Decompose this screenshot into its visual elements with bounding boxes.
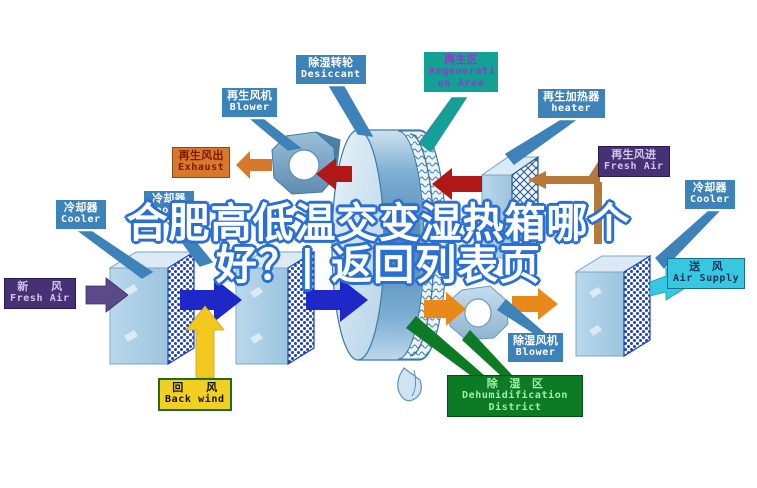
callout-regeneration-fresh-air-in-cn: 再生风进 — [604, 149, 664, 161]
after-cooler-unit — [576, 256, 650, 356]
callout-desiccant-wheel-en: Desiccant — [301, 69, 361, 80]
callout-air-supply-out-cn: 送 风 — [673, 261, 739, 273]
callout-regeneration-fresh-air-in[interactable]: 再生风进 Fresh Air — [598, 146, 670, 177]
callout-dehumidification-blower[interactable]: 除湿风机 Blower — [508, 333, 563, 362]
callout-dehumidification-district[interactable]: 除 湿 区 Dehumidification District — [447, 375, 583, 417]
callout-regeneration-blower-en: Blower — [227, 102, 272, 113]
regen-intake-arrow — [528, 162, 607, 244]
regen-exhaust-arrow — [236, 151, 272, 179]
callout-regeneration-blower-cn: 再生风机 — [227, 90, 272, 102]
callout-regeneration-fresh-air-in-en: Fresh Air — [604, 161, 664, 172]
callout-regeneration-exhaust-en: Exhaust — [178, 162, 224, 173]
callout-regeneration-exhaust[interactable]: 再生风出 Exhaust — [172, 147, 230, 178]
callout-regeneration-exhaust-cn: 再生风出 — [178, 150, 224, 162]
airflow-schematic: XY — [0, 0, 757, 488]
condensate-drain — [398, 368, 422, 401]
callout-dehumidification-district-cn: 除 湿 区 — [453, 378, 577, 390]
callout-cooler-right-en: Cooler — [690, 194, 730, 205]
callout-regeneration-heater-cn: 再生加热器 — [543, 91, 600, 103]
callout-cooler-right-cn: 冷却器 — [690, 182, 730, 194]
callout-regeneration-heater[interactable]: 再生加热器 heater — [538, 89, 605, 118]
callout-air-supply-out[interactable]: 送 风 Air Supply — [667, 258, 745, 289]
callout-cooler-right[interactable]: 冷却器 Cooler — [685, 180, 735, 209]
callout-desiccant-wheel-cn: 除湿转轮 — [301, 57, 361, 69]
regeneration-area-leader — [420, 98, 466, 152]
callout-fresh-air-in-en: Fresh Air — [10, 293, 70, 304]
callout-back-wind[interactable]: 回 风 Back wind — [158, 378, 232, 411]
regeneration-heater-unit — [482, 157, 538, 258]
callout-dehumidification-blower-cn: 除湿风机 — [513, 335, 558, 347]
mid-cooler-unit — [236, 252, 314, 364]
callout-cooler-left-en: Cooler — [61, 214, 101, 225]
callout-regeneration-blower[interactable]: 再生风机 Blower — [222, 88, 277, 117]
callout-cooler-left[interactable]: 冷却器 Cooler — [56, 200, 106, 229]
callout-regeneration-area[interactable]: 再生区 Regenerati on Area — [424, 52, 498, 92]
callout-air-supply-out-en: Air Supply — [673, 273, 739, 284]
diagram-canvas: XY — [0, 0, 757, 488]
callout-cooler-mid-left-en: Cooler — [149, 205, 189, 216]
callout-fresh-air-in[interactable]: 新 风 Fresh Air — [4, 278, 76, 309]
callout-fresh-air-in-cn: 新 风 — [10, 281, 70, 293]
callout-desiccant-wheel[interactable]: 除湿转轮 Desiccant — [296, 55, 366, 84]
desiccant-rotor: XY — [332, 130, 446, 360]
callout-regeneration-heater-en: heater — [543, 103, 600, 114]
callout-cooler-mid-left[interactable]: 冷却器 Cooler — [144, 191, 194, 220]
callout-back-wind-cn: 回 风 — [165, 382, 225, 394]
callout-dehumidification-district-en: Dehumidification District — [453, 390, 577, 412]
callout-cooler-left-cn: 冷却器 — [61, 202, 101, 214]
callout-regeneration-area-en: Regenerati on Area — [429, 66, 493, 88]
callout-back-wind-en: Back wind — [165, 394, 225, 405]
callout-dehumidification-blower-en: Blower — [513, 347, 558, 358]
callout-regeneration-area-cn: 再生区 — [429, 54, 493, 66]
callout-cooler-mid-left-cn: 冷却器 — [149, 193, 189, 205]
